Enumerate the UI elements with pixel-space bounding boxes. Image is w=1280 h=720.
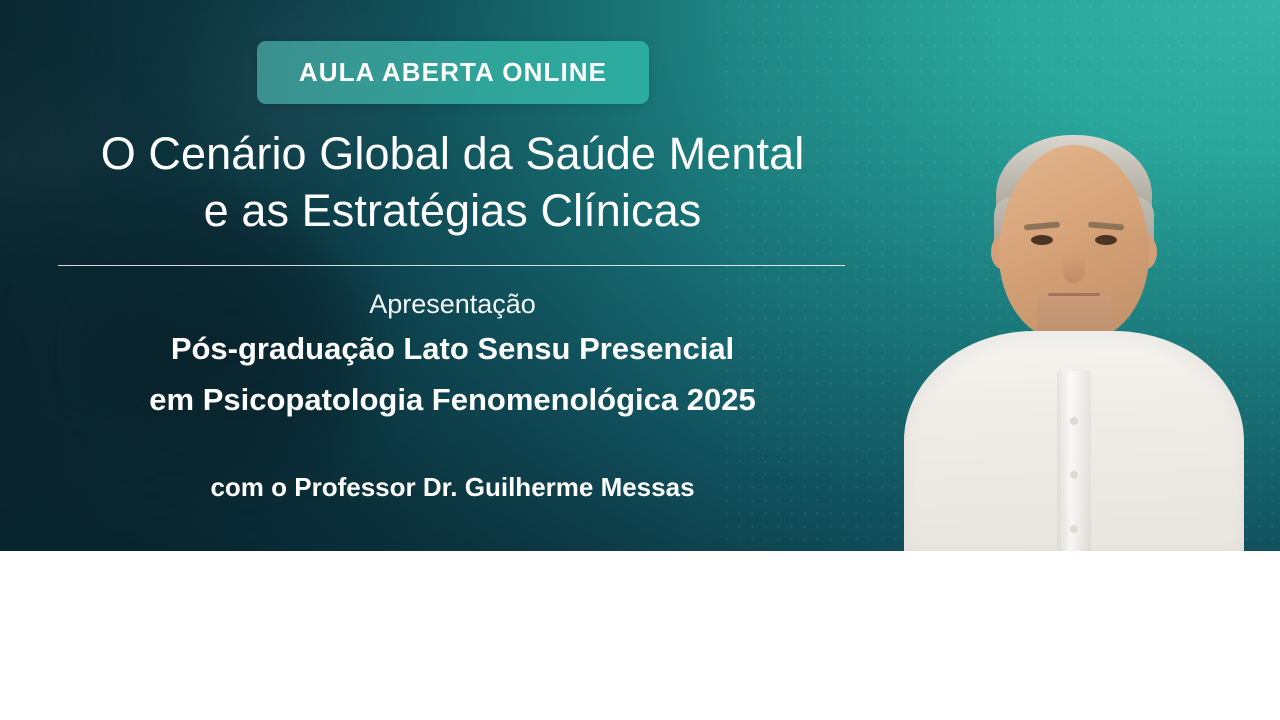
event-type-badge[interactable]: AULA ABERTA ONLINE (257, 41, 649, 104)
page-title: O Cenário Global da Saúde Mental e as Es… (0, 125, 905, 239)
portrait-shirt-placket (1057, 371, 1091, 551)
program-line-1: Pós-graduação Lato Sensu Presencial (0, 327, 905, 372)
portrait-shirt (904, 331, 1244, 551)
portrait-nose (1063, 253, 1085, 283)
portrait-eye-left (1031, 235, 1053, 245)
portrait-eye-right (1095, 235, 1117, 245)
event-type-badge-label: AULA ABERTA ONLINE (299, 57, 607, 88)
portrait-shirt-button (1070, 525, 1078, 533)
footer-logo-bar: Faculdade de Ciências Médicas da SANTA C… (0, 551, 1280, 720)
portrait-shirt-button (1070, 471, 1078, 479)
program-block: Apresentação Pós-graduação Lato Sensu Pr… (0, 288, 905, 423)
title-line-1: O Cenário Global da Saúde Mental (0, 125, 905, 182)
promo-slide: AULA ABERTA ONLINE O Cenário Global da S… (0, 0, 1280, 720)
presenter-portrait (904, 81, 1244, 551)
hero-section: AULA ABERTA ONLINE O Cenário Global da S… (0, 0, 1280, 551)
horizontal-divider (58, 265, 845, 266)
portrait-shirt-button (1070, 417, 1078, 425)
program-line-2: em Psicopatologia Fenomenológica 2025 (0, 378, 905, 423)
presenter-name: com o Professor Dr. Guilherme Messas (0, 472, 905, 503)
presentation-label: Apresentação (0, 288, 905, 321)
title-line-2: e as Estratégias Clínicas (0, 182, 905, 239)
